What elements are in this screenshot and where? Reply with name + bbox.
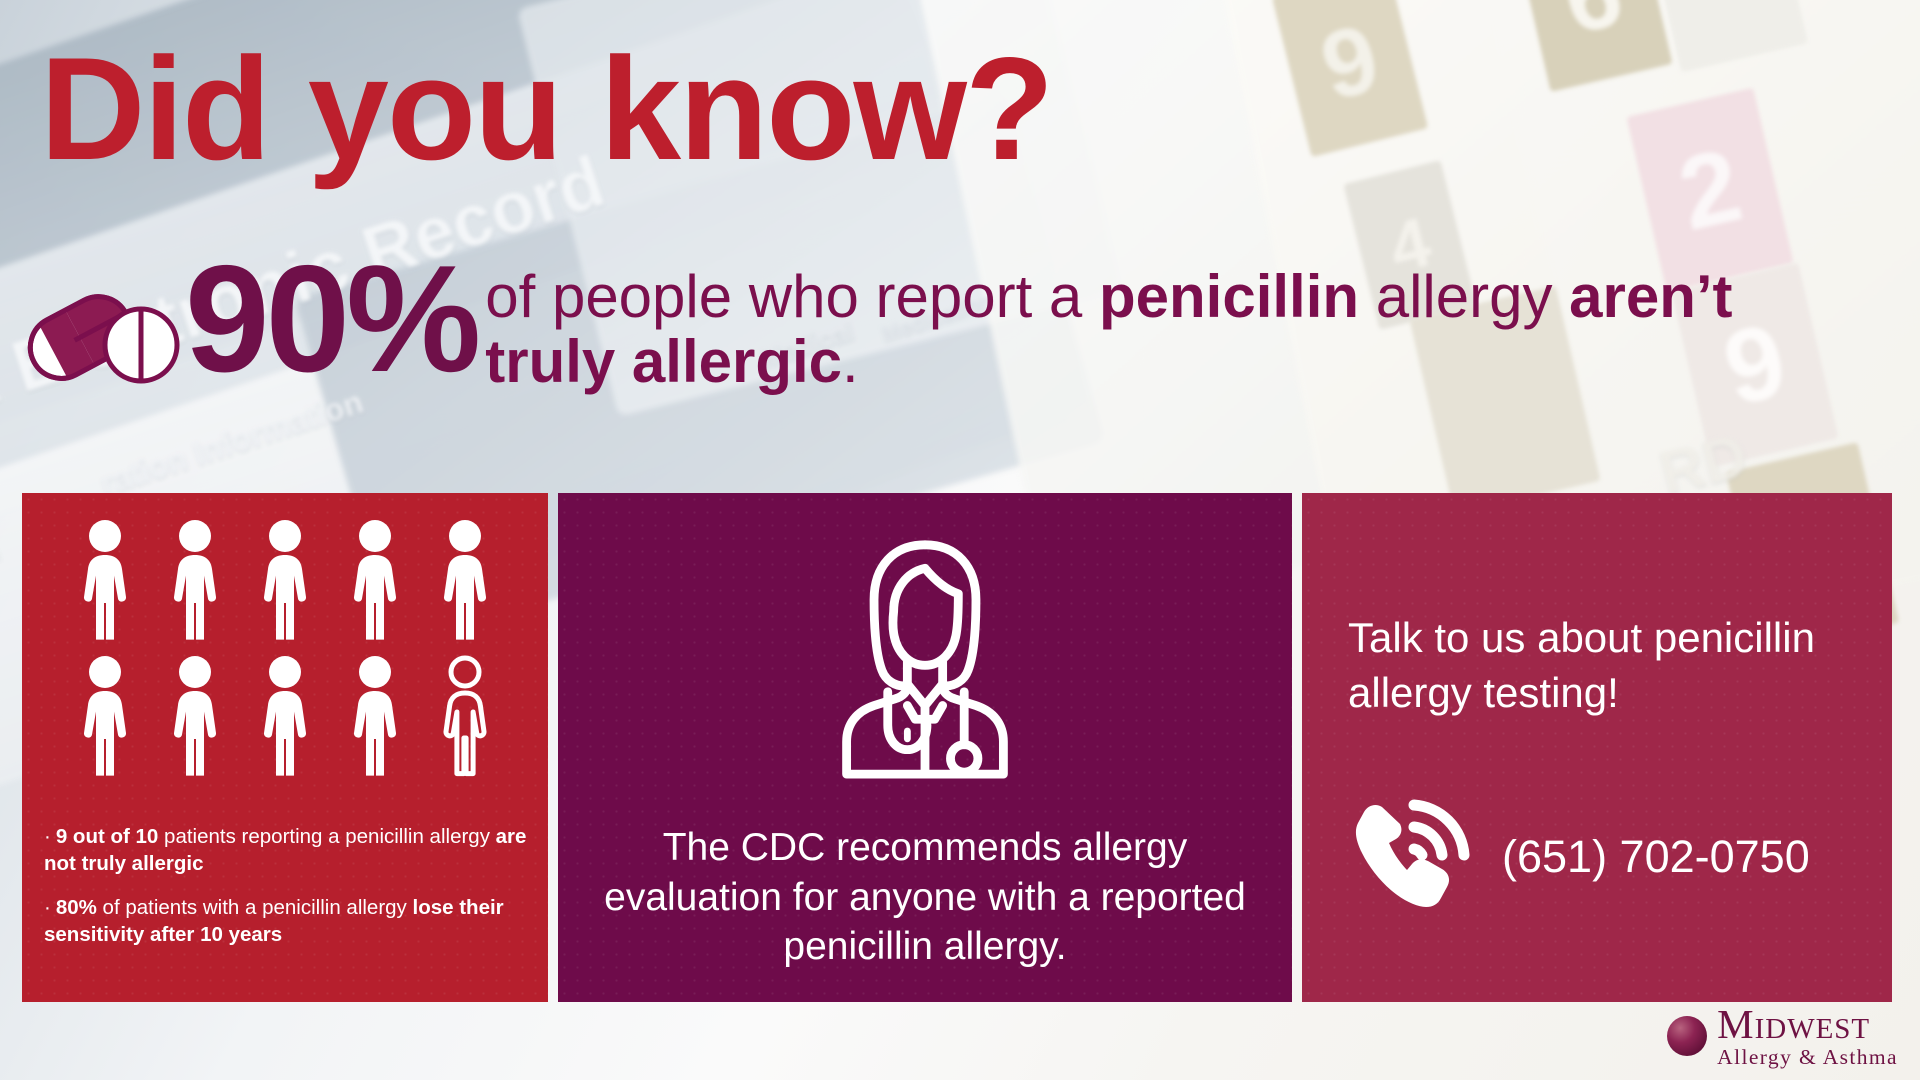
person-filled-icon: [74, 655, 136, 777]
phone-number[interactable]: (651) 702-0750: [1502, 831, 1810, 883]
panel-cdc-recommendation: The CDC recommends allergy evaluation fo…: [558, 493, 1292, 1002]
person-filled-icon: [254, 519, 316, 641]
bullet-body: patients reporting a penicillin allergy: [158, 825, 495, 848]
stat-sentence: of people who report a penicillin allerg…: [485, 265, 1775, 395]
stat-text-part-2: allergy: [1359, 263, 1569, 330]
panel-statistics: ·9 out of 10 patients reporting a penici…: [22, 493, 548, 1002]
bullet-marker: ·: [44, 896, 51, 919]
cta-text: Talk to us about penicillin allergy test…: [1348, 611, 1856, 720]
phone-contact-row[interactable]: (651) 702-0750: [1348, 793, 1810, 921]
logo-tagline: Allergy & Asthma: [1717, 1047, 1898, 1069]
person-outline-icon: [434, 655, 496, 777]
list-item: ·80% of patients with a penicillin aller…: [44, 894, 532, 949]
stat-text-part-1: of people who report a: [485, 263, 1099, 330]
person-filled-icon: [344, 519, 406, 641]
statistics-bullet-list: ·9 out of 10 patients reporting a penici…: [44, 823, 532, 964]
people-row-top: [74, 519, 496, 641]
stat-text-period: .: [842, 328, 859, 395]
person-filled-icon: [164, 519, 226, 641]
cdc-recommendation-text: The CDC recommends allergy evaluation fo…: [598, 823, 1252, 972]
stat-statement: 90% of people who report a penicillin al…: [18, 255, 1775, 401]
panel-call-to-action: Talk to us about penicillin allergy test…: [1302, 493, 1892, 1002]
people-row-bottom: [74, 655, 496, 777]
people-pictogram: [22, 519, 548, 791]
phone-ringing-icon[interactable]: [1348, 793, 1476, 921]
logo-wordmark: Midwest Allergy & Asthma: [1717, 1004, 1898, 1069]
person-filled-icon: [74, 519, 136, 641]
logo-company-name: Midwest: [1717, 1004, 1898, 1045]
person-filled-icon: [434, 519, 496, 641]
stat-percent: 90%: [185, 247, 477, 391]
stat-bold-penicillin: penicillin: [1099, 263, 1359, 330]
person-filled-icon: [164, 655, 226, 777]
female-doctor-stethoscope-icon: [817, 535, 1033, 780]
list-item: ·9 out of 10 patients reporting a penici…: [44, 823, 532, 878]
bullet-body: of patients with a penicillin allergy: [97, 896, 413, 919]
bullet-lead: 9 out of 10: [56, 825, 159, 848]
page-title: Did you know?: [40, 36, 1052, 182]
pill-capsule-tablet-icon: [18, 283, 193, 401]
bullet-marker: ·: [44, 825, 51, 848]
person-filled-icon: [344, 655, 406, 777]
company-logo: Midwest Allergy & Asthma: [1667, 1004, 1898, 1069]
sphere-icon: [1667, 1016, 1707, 1056]
person-filled-icon: [254, 655, 316, 777]
bullet-lead: 80%: [56, 896, 97, 919]
panel-texture: [1302, 493, 1892, 1002]
